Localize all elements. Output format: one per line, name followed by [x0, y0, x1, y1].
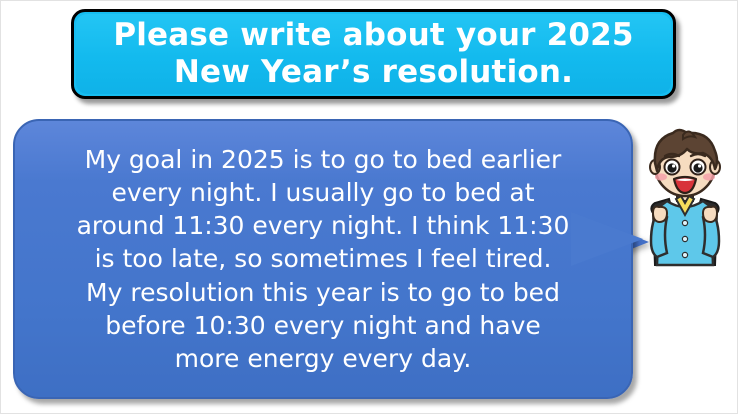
speech-bubble: My goal in 2025 is to go to bed earlier …	[13, 119, 633, 399]
slide-canvas: Please write about your 2025 New Year’s …	[0, 0, 738, 414]
speech-bubble-text: My goal in 2025 is to go to bed earlier …	[59, 143, 588, 376]
speech-bubble-group: My goal in 2025 is to go to bed earlier …	[13, 119, 645, 401]
prompt-banner: Please write about your 2025 New Year’s …	[71, 9, 676, 99]
schoolboy-character-icon	[631, 125, 738, 277]
prompt-banner-text: Please write about your 2025 New Year’s …	[103, 17, 643, 90]
